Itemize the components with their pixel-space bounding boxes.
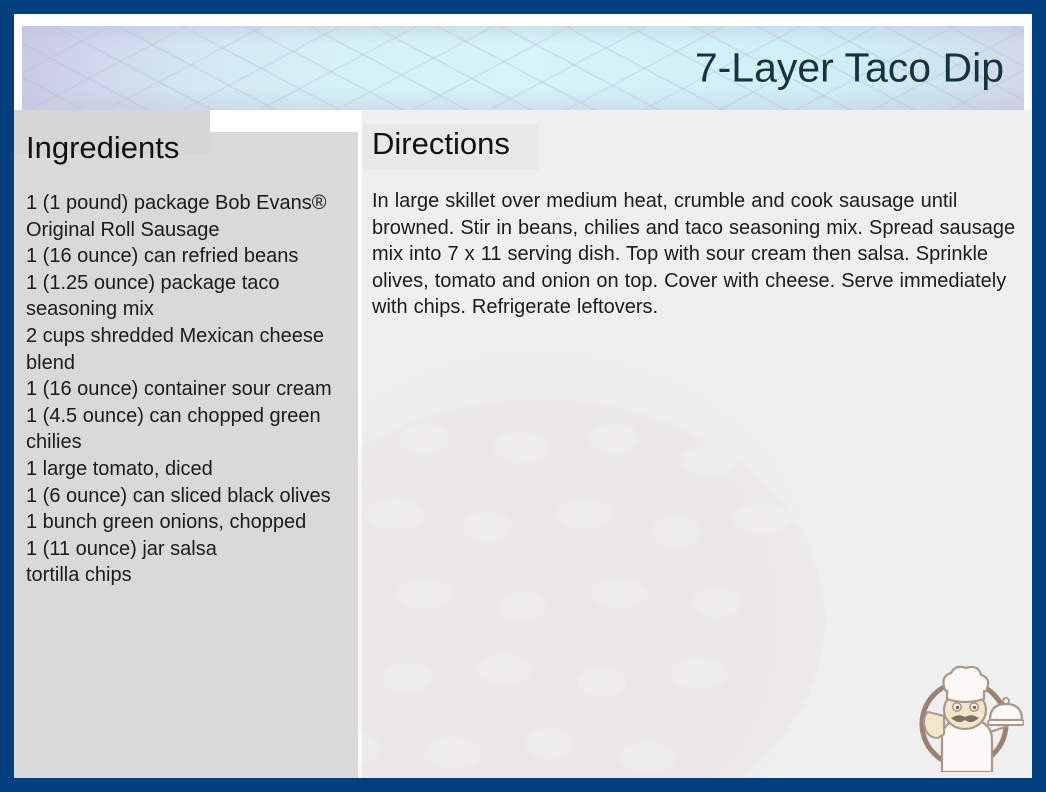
column-divider [358, 132, 362, 778]
directions-heading: Directions [372, 126, 510, 162]
page-title: 7-Layer Taco Dip [695, 45, 1004, 92]
list-item: 1 large tomato, diced [26, 456, 356, 483]
recipe-card: 7-Layer Taco Dip Ingredients Directions … [0, 0, 1046, 792]
chef-mascot-logo [904, 654, 1024, 772]
list-item: tortilla chips [26, 562, 356, 589]
list-item: 1 (11 ounce) jar salsa [26, 536, 356, 563]
list-item: 1 (1.25 ounce) package taco seasoning mi… [26, 270, 356, 323]
content-area: Ingredients Directions 1 (1 pound) packa… [14, 110, 1032, 778]
ingredients-heading: Ingredients [26, 130, 179, 166]
list-item: 1 (4.5 ounce) can chopped green chilies [26, 403, 356, 456]
list-item: 1 (16 ounce) container sour cream [26, 376, 356, 403]
list-item: 2 cups shredded Mexican cheese blend [26, 323, 356, 376]
list-item: 1 bunch green onions, chopped [26, 509, 356, 536]
ingredients-list: 1 (1 pound) package Bob Evans® Original … [26, 190, 356, 589]
header-banner: 7-Layer Taco Dip [22, 26, 1024, 110]
list-item: 1 (6 ounce) can sliced black olives [26, 483, 356, 510]
card-inner: 7-Layer Taco Dip Ingredients Directions … [14, 14, 1032, 778]
list-item: 1 (16 ounce) can refried beans [26, 243, 356, 270]
list-item: 1 (1 pound) package Bob Evans® Original … [26, 190, 356, 243]
